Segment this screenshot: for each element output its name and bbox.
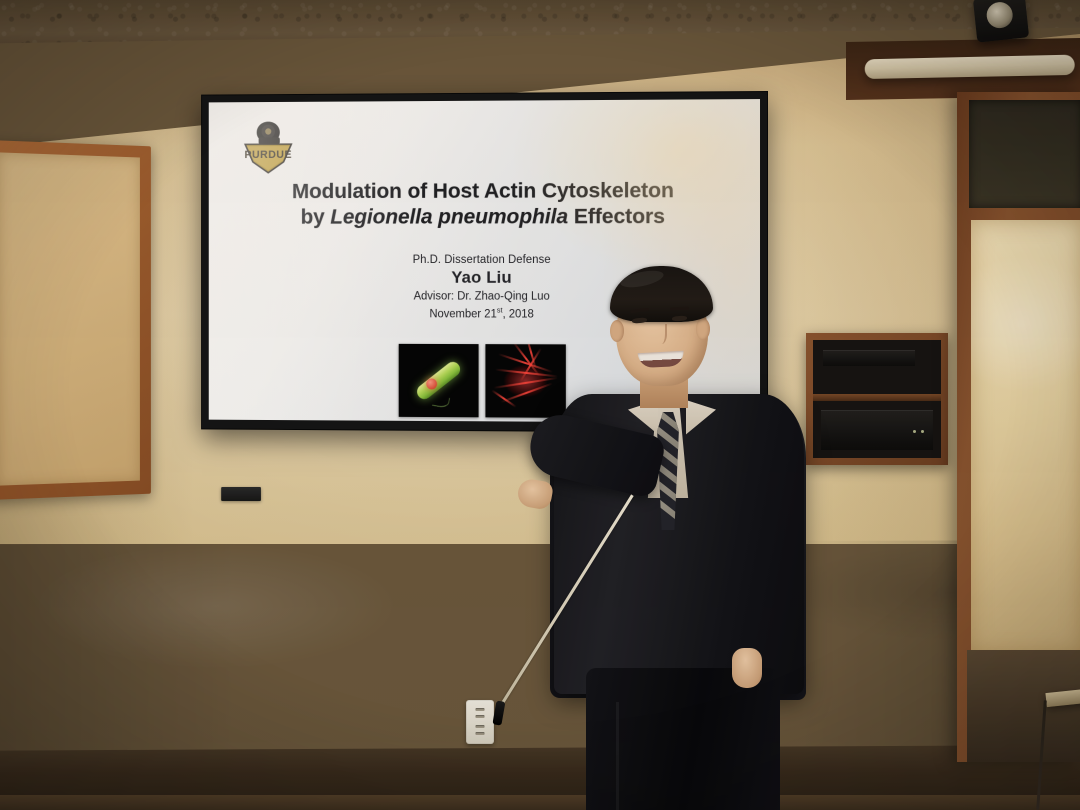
door-panel[interactable] bbox=[957, 92, 1080, 762]
slide-title-line2-prefix: by bbox=[301, 205, 331, 229]
door-lower-panel bbox=[967, 650, 1080, 762]
slide-title-species: Legionella pneumophila bbox=[330, 205, 568, 229]
resting-hand bbox=[732, 648, 762, 688]
pointing-hand bbox=[516, 477, 554, 510]
presenter bbox=[520, 262, 850, 810]
hair bbox=[610, 266, 713, 322]
nose bbox=[656, 324, 667, 344]
slide-title: Modulation of Host Actin Cytoskeleton by… bbox=[209, 177, 760, 231]
ear-left bbox=[610, 320, 624, 342]
trouser-seam bbox=[616, 702, 619, 810]
slide-title-line2-suffix: Effectors bbox=[568, 205, 665, 229]
wall-connection-plate bbox=[221, 487, 261, 501]
bacterium-red-focus bbox=[426, 379, 437, 390]
door-glass-panel bbox=[971, 220, 1080, 654]
projection-screen-housing bbox=[865, 55, 1075, 79]
bacterium-micrograph bbox=[398, 344, 478, 417]
door-upper-panel bbox=[969, 100, 1080, 208]
ear-right bbox=[696, 318, 710, 340]
bulletin-board-surface bbox=[0, 152, 140, 485]
bulletin-board bbox=[0, 140, 151, 500]
ceiling-speaker-icon bbox=[973, 0, 1029, 43]
purdue-logo-icon: PURDUE bbox=[236, 116, 301, 181]
presentation-photo-scene: PURDUE Modulation of Host Actin Cytoskel… bbox=[0, 0, 1080, 810]
slide-title-line1: Modulation of Host Actin Cytoskeleton bbox=[292, 178, 674, 203]
slide-date-prefix: November 21 bbox=[429, 308, 496, 320]
bacterium-tail bbox=[431, 395, 449, 409]
wall-outlet bbox=[466, 700, 494, 744]
